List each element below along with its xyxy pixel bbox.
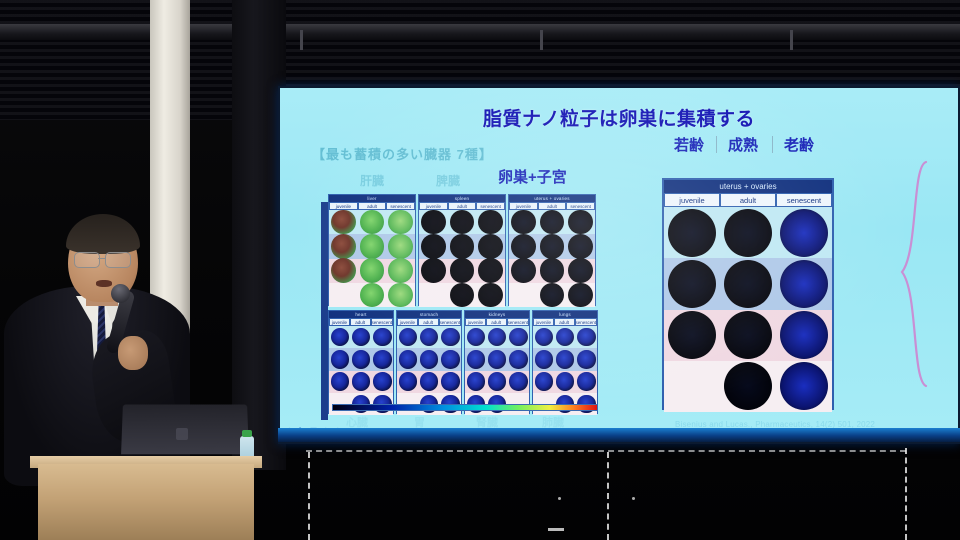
specimen-cell — [419, 210, 448, 234]
specimen-image — [352, 328, 370, 346]
specimen-cell — [440, 348, 461, 370]
specimen-cell — [720, 258, 776, 309]
organ-panel-heart: heartjuvenileadultsenescent — [328, 310, 394, 414]
specimen-image — [568, 258, 593, 283]
specimen-image — [556, 372, 574, 390]
panel-column-header: adult — [486, 318, 507, 326]
panel-title: uterus + ovaries — [509, 195, 595, 202]
age-header-adult: 成熟 — [728, 134, 758, 155]
specimen-image — [331, 210, 356, 235]
panel-column-headers: juvenileadultsenescent — [419, 202, 505, 210]
specimen-cell — [448, 234, 477, 258]
specimen-cell — [664, 258, 720, 309]
specimen-image — [511, 258, 536, 283]
specimen-image — [421, 210, 446, 235]
specimen-cell — [566, 259, 595, 283]
specimen-cell — [554, 348, 575, 370]
specimen-image — [540, 234, 565, 259]
panel-column-header: adult — [350, 318, 371, 326]
specimen-image — [488, 350, 506, 368]
specimen-cell — [386, 210, 415, 234]
specimen-cell — [329, 234, 358, 258]
specimen-image — [556, 328, 574, 346]
panel-column-header: senescent — [476, 202, 505, 210]
specimen-grid — [397, 326, 461, 415]
specimen-image — [388, 210, 413, 235]
specimen-cell — [329, 283, 358, 307]
specimen-cell — [486, 326, 507, 348]
laptop-logo — [176, 428, 188, 440]
floor-guide-line — [308, 452, 310, 540]
specimen-cell — [329, 326, 350, 348]
specimen-image — [488, 328, 506, 346]
organ-label-uterus-ovaries: 卵巣+子宮 — [498, 166, 567, 187]
specimen-image — [352, 350, 370, 368]
specimen-image — [467, 328, 485, 346]
panel-column-header: adult — [418, 318, 439, 326]
panel-column-header: juvenile — [533, 318, 554, 326]
specimen-image — [388, 258, 413, 283]
specimen-image — [467, 350, 485, 368]
specimen-image — [509, 328, 527, 346]
specimen-cell — [720, 361, 776, 412]
specimen-cell — [664, 361, 720, 412]
magnified-specimen-grid — [664, 207, 832, 412]
age-header-separator — [716, 136, 717, 153]
specimen-image — [478, 234, 503, 259]
hand — [118, 336, 148, 370]
panel-title: lungs — [533, 311, 597, 318]
specimen-image — [668, 209, 716, 257]
specimen-cell — [329, 348, 350, 370]
specimen-image — [388, 283, 413, 308]
specimen-image — [450, 258, 475, 283]
specimen-image — [511, 234, 536, 259]
specimen-grid — [533, 326, 597, 415]
organ-label-spleen: 脾臓 — [436, 172, 460, 189]
specimen-image — [352, 372, 370, 390]
specimen-cell — [418, 348, 439, 370]
age-header-senescent: 老齢 — [784, 134, 814, 155]
specimen-cell — [486, 371, 507, 393]
specimen-image — [467, 372, 485, 390]
specimen-cell — [386, 259, 415, 283]
specimen-image — [441, 350, 459, 368]
specimen-cell — [440, 371, 461, 393]
left-composite-figure: liverjuvenileadultsenescentspleenjuvenil… — [328, 194, 600, 420]
specimen-grid — [419, 210, 505, 307]
eyeglasses-right-lens — [105, 252, 131, 268]
organ-panel-uterus-ovaries: uterus + ovariesjuvenileadultsenescent — [508, 194, 596, 306]
specimen-cell — [419, 259, 448, 283]
specimen-cell — [397, 348, 418, 370]
panel-title: stomach — [397, 311, 461, 318]
panel-column-headers: juvenileadultsenescent — [397, 318, 461, 326]
panel-column-header: juvenile — [329, 318, 350, 326]
specimen-cell — [720, 207, 776, 258]
projection-screen: 脂質ナノ粒子は卵巣に集積する 【最も蓄積の多い臓器 7種】 肝臓 脾臓 卵巣+子… — [280, 88, 958, 439]
specimen-cell — [554, 326, 575, 348]
magnified-column-headers: juvenileadultsenescent — [664, 193, 832, 207]
specimen-cell — [329, 210, 358, 234]
specimen-image — [399, 372, 417, 390]
specimen-cell — [350, 348, 371, 370]
specimen-cell — [440, 326, 461, 348]
specimen-cell — [397, 326, 418, 348]
age-header-juvenile: 若齢 — [674, 134, 704, 155]
specimen-cell — [566, 210, 595, 234]
specimen-cell — [509, 283, 538, 307]
mouth — [96, 280, 112, 287]
specimen-image — [331, 328, 349, 346]
specimen-cell — [533, 326, 554, 348]
specimen-image — [360, 258, 385, 283]
panel-column-header: juvenile — [465, 318, 486, 326]
specimen-image — [420, 350, 438, 368]
magnified-panel-title: uterus + ovaries — [664, 180, 832, 193]
organ-panel-stomach: stomachjuvenileadultsenescent — [396, 310, 462, 414]
specimen-cell — [465, 326, 486, 348]
specimen-cell — [465, 371, 486, 393]
panel-title: liver — [329, 195, 415, 202]
specimen-image — [535, 328, 553, 346]
screen-bottom-bezel — [278, 428, 960, 442]
water-bottle-cap — [242, 430, 252, 437]
specimen-image — [478, 283, 503, 308]
specimen-cell — [508, 371, 529, 393]
specimen-cell — [329, 371, 350, 393]
specimen-cell — [576, 371, 597, 393]
specimen-image — [331, 234, 356, 259]
specimen-cell — [476, 210, 505, 234]
specimen-image — [360, 283, 385, 308]
specimen-image — [577, 350, 595, 368]
specimen-image — [724, 209, 772, 257]
specimen-image — [360, 210, 385, 235]
specimen-cell — [358, 234, 387, 258]
panel-column-headers: juvenileadultsenescent — [509, 202, 595, 210]
floor-guide-line — [607, 452, 609, 540]
specimen-image — [450, 283, 475, 308]
specimen-cell — [448, 283, 477, 307]
specimen-image — [540, 258, 565, 283]
podium — [38, 464, 254, 540]
specimen-grid — [465, 326, 529, 415]
floor-marker — [558, 497, 561, 500]
specimen-cell — [566, 234, 595, 258]
specimen-image — [780, 260, 828, 308]
specimen-cell — [476, 283, 505, 307]
age-header-separator — [772, 136, 773, 153]
screenshot-root: 脂質ナノ粒子は卵巣に集積する 【最も蓄積の多い臓器 7種】 肝臓 脾臓 卵巣+子… — [0, 0, 960, 540]
panel-column-header: juvenile — [509, 202, 538, 210]
hair — [66, 214, 140, 254]
specimen-cell — [358, 283, 387, 307]
specimen-image — [441, 372, 459, 390]
blinds-headrail — [0, 24, 960, 40]
figure-side-rail — [321, 202, 328, 420]
curly-brace — [896, 160, 930, 388]
specimen-image — [780, 311, 828, 359]
specimen-cell — [476, 259, 505, 283]
specimen-cell — [554, 371, 575, 393]
specimen-cell — [664, 310, 720, 361]
specimen-image — [399, 328, 417, 346]
specimen-image — [577, 372, 595, 390]
specimen-cell — [419, 283, 448, 307]
specimen-image — [540, 283, 565, 308]
specimen-image — [577, 328, 595, 346]
panel-column-header: adult — [538, 202, 567, 210]
magnified-column-header: juvenile — [664, 193, 720, 207]
specimen-cell — [397, 371, 418, 393]
specimen-cell — [538, 210, 567, 234]
slide-subtitle-bracket: 【最も蓄積の多い臓器 7種】 — [312, 144, 493, 163]
specimen-image — [535, 350, 553, 368]
specimen-grid — [329, 326, 393, 415]
panel-title: heart — [329, 311, 393, 318]
panel-column-header: adult — [358, 202, 387, 210]
specimen-cell — [508, 348, 529, 370]
specimen-image — [420, 372, 438, 390]
specimen-cell — [533, 371, 554, 393]
specimen-image — [724, 362, 772, 410]
specimen-image — [420, 328, 438, 346]
specimen-image — [421, 234, 446, 259]
organ-label-liver: 肝臓 — [360, 172, 384, 189]
organ-panel-lungs: lungsjuvenileadultsenescent — [532, 310, 598, 414]
intensity-colorbar — [332, 404, 598, 411]
eyeglasses-bridge — [98, 258, 105, 259]
specimen-image — [450, 234, 475, 259]
blind-cord — [790, 30, 793, 50]
specimen-cell — [386, 283, 415, 307]
specimen-cell — [664, 207, 720, 258]
specimen-cell — [509, 234, 538, 258]
panel-column-header: juvenile — [397, 318, 418, 326]
panel-title: kidneys — [465, 311, 529, 318]
specimen-image — [724, 260, 772, 308]
specimen-image — [399, 350, 417, 368]
panel-column-header: senescent — [371, 318, 394, 326]
specimen-cell — [372, 348, 393, 370]
specimen-cell — [448, 210, 477, 234]
panel-column-headers: juvenileadultsenescent — [533, 318, 597, 326]
eyeglasses-left-lens — [74, 252, 100, 268]
specimen-grid — [509, 210, 595, 307]
panel-column-header: adult — [448, 202, 477, 210]
panel-column-header: senescent — [575, 318, 598, 326]
panel-column-headers: juvenileadultsenescent — [329, 318, 393, 326]
specimen-image — [568, 283, 593, 308]
specimen-cell — [538, 283, 567, 307]
specimen-cell — [418, 371, 439, 393]
organ-panel-liver: liverjuvenileadultsenescent — [328, 194, 416, 306]
organ-panel-spleen: spleenjuvenileadultsenescent — [418, 194, 506, 306]
specimen-image — [331, 258, 356, 283]
specimen-cell — [465, 348, 486, 370]
panel-column-headers: juvenileadultsenescent — [329, 202, 415, 210]
specimen-cell — [576, 348, 597, 370]
specimen-cell — [776, 361, 832, 412]
slide-title: 脂質ナノ粒子は卵巣に集積する — [280, 104, 958, 131]
specimen-cell — [418, 326, 439, 348]
blind-cord — [300, 30, 303, 50]
specimen-cell — [476, 234, 505, 258]
floor-marker — [632, 497, 635, 500]
specimen-image — [535, 372, 553, 390]
magnified-uterus-ovaries-panel: uterus + ovariesjuvenileadultsenescent — [662, 178, 834, 410]
panel-column-header: senescent — [566, 202, 595, 210]
specimen-image — [373, 328, 391, 346]
panel-column-header: adult — [554, 318, 575, 326]
specimen-cell — [720, 310, 776, 361]
specimen-cell — [576, 326, 597, 348]
specimen-image — [450, 210, 475, 235]
specimen-image — [331, 350, 349, 368]
specimen-image — [668, 311, 716, 359]
floor-guide-line — [905, 448, 907, 540]
specimen-image — [478, 210, 503, 235]
specimen-cell — [386, 234, 415, 258]
specimen-cell — [776, 310, 832, 361]
specimen-cell — [538, 234, 567, 258]
specimen-cell — [508, 326, 529, 348]
panel-column-headers: juvenileadultsenescent — [465, 318, 529, 326]
panel-column-header: juvenile — [419, 202, 448, 210]
specimen-image — [478, 258, 503, 283]
specimen-image — [568, 234, 593, 259]
specimen-image — [724, 311, 772, 359]
specimen-cell — [358, 210, 387, 234]
specimen-image — [509, 350, 527, 368]
specimen-image — [441, 328, 459, 346]
specimen-cell — [350, 371, 371, 393]
specimen-cell — [419, 234, 448, 258]
specimen-image — [509, 372, 527, 390]
specimen-cell — [486, 348, 507, 370]
specimen-image — [780, 362, 828, 410]
panel-title: spleen — [419, 195, 505, 202]
specimen-image — [331, 372, 349, 390]
specimen-cell — [329, 259, 358, 283]
specimen-cell — [372, 326, 393, 348]
specimen-cell — [538, 259, 567, 283]
specimen-image — [373, 350, 391, 368]
specimen-image — [421, 258, 446, 283]
specimen-cell — [509, 259, 538, 283]
panel-column-header: juvenile — [329, 202, 358, 210]
panel-column-header: senescent — [386, 202, 415, 210]
specimen-cell — [372, 371, 393, 393]
specimen-cell — [776, 207, 832, 258]
specimen-image — [668, 260, 716, 308]
organ-panel-kidneys: kidneysjuvenileadultsenescent — [464, 310, 530, 414]
specimen-image — [360, 234, 385, 259]
specimen-image — [511, 210, 536, 235]
specimen-cell — [776, 258, 832, 309]
specimen-grid — [329, 210, 415, 307]
panel-column-header: senescent — [439, 318, 462, 326]
specimen-cell — [566, 283, 595, 307]
specimen-image — [780, 209, 828, 257]
specimen-cell — [448, 259, 477, 283]
specimen-image — [488, 372, 506, 390]
specimen-image — [373, 372, 391, 390]
specimen-image — [556, 350, 574, 368]
panel-column-header: senescent — [507, 318, 530, 326]
specimen-image — [388, 234, 413, 259]
magnified-column-header: adult — [720, 193, 776, 207]
blind-cord — [540, 30, 543, 50]
specimen-cell — [509, 210, 538, 234]
specimen-cell — [533, 348, 554, 370]
specimen-cell — [358, 259, 387, 283]
right-magnified-panel: uterus + ovariesjuvenileadultsenescent — [662, 178, 834, 410]
specimen-cell — [350, 326, 371, 348]
floor-marker — [548, 528, 564, 531]
magnified-column-header: senescent — [776, 193, 832, 207]
floor-guide-line — [306, 450, 906, 452]
specimen-image — [540, 210, 565, 235]
specimen-image — [568, 210, 593, 235]
